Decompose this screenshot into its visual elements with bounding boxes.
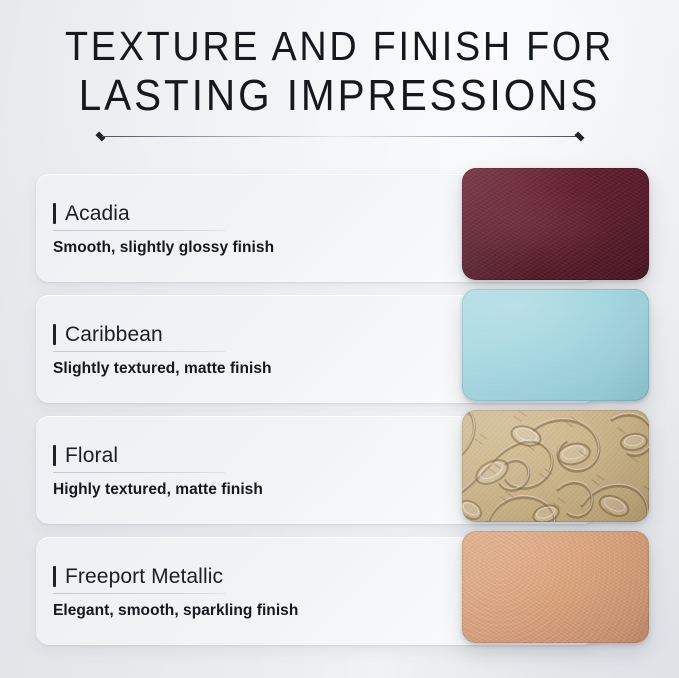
- swatch-row-list: Acadia Smooth, slightly glossy finish Ca…: [0, 168, 679, 652]
- swatch-title-line: Caribbean: [53, 322, 383, 347]
- swatch-title: Caribbean: [65, 323, 163, 346]
- swatch-card-body: Acadia Smooth, slightly glossy finish: [53, 201, 383, 257]
- page-header: TEXTURE AND FINISH FOR LASTING IMPRESSIO…: [0, 22, 679, 120]
- swatch-title: Acadia: [65, 202, 130, 225]
- swatch-title-line: Freeport Metallic: [53, 564, 383, 589]
- swatch-row: Caribbean Slightly textured, matte finis…: [0, 289, 679, 410]
- infographic-page: TEXTURE AND FINISH FOR LASTING IMPRESSIO…: [0, 0, 679, 678]
- swatch-gloss-overlay: [462, 531, 649, 643]
- swatch-title-line: Floral: [53, 443, 383, 468]
- swatch-card-body: Floral Highly textured, matte finish: [53, 443, 383, 499]
- swatch-gloss-overlay: [462, 168, 649, 280]
- swatch-card-body: Freeport Metallic Elegant, smooth, spark…: [53, 564, 383, 620]
- diamond-rule-divider-icon: [96, 131, 584, 143]
- swatch-caribbean: [462, 289, 649, 401]
- swatch-row: Acadia Smooth, slightly glossy finish: [0, 168, 679, 289]
- swatch-acadia: [462, 168, 649, 280]
- headline-line-1: TEXTURE AND FINISH FOR: [27, 22, 652, 71]
- title-underline-rule: [53, 472, 225, 473]
- accent-bar-icon: [53, 566, 56, 587]
- swatch-title-line: Acadia: [53, 201, 383, 226]
- accent-bar-icon: [53, 203, 56, 224]
- title-underline-rule: [53, 593, 225, 594]
- swatch-description: Elegant, smooth, sparkling finish: [53, 601, 383, 620]
- diamond-right-icon: [574, 131, 584, 141]
- swatch-freeport-metallic: [462, 531, 649, 643]
- divider-rule: [102, 136, 578, 137]
- title-underline-rule: [53, 230, 225, 231]
- swatch-floral: [462, 410, 649, 522]
- swatch-row: Floral Highly textured, matte finish: [0, 410, 679, 531]
- swatch-title: Floral: [65, 444, 118, 467]
- swatch-gloss-overlay: [462, 289, 649, 401]
- swatch-description: Slightly textured, matte finish: [53, 359, 383, 378]
- swatch-description: Smooth, slightly glossy finish: [53, 238, 383, 257]
- swatch-gloss-overlay: [462, 410, 649, 522]
- swatch-row: Freeport Metallic Elegant, smooth, spark…: [0, 531, 679, 652]
- swatch-description: Highly textured, matte finish: [53, 480, 383, 499]
- accent-bar-icon: [53, 324, 56, 345]
- swatch-card-body: Caribbean Slightly textured, matte finis…: [53, 322, 383, 378]
- accent-bar-icon: [53, 445, 56, 466]
- swatch-title: Freeport Metallic: [65, 565, 223, 588]
- title-underline-rule: [53, 351, 225, 352]
- headline-line-2: LASTING IMPRESSIONS: [27, 71, 652, 120]
